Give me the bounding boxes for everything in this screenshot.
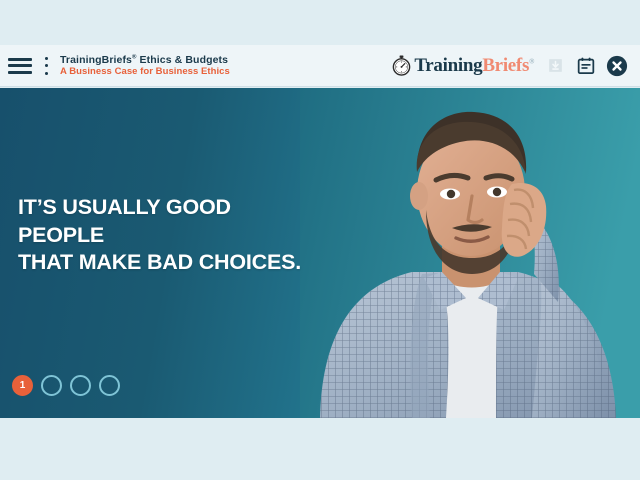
notes-glyph: [576, 56, 596, 76]
notes-icon[interactable]: [575, 55, 597, 77]
header-titles: TrainingBriefs® Ethics & Budgets A Busin…: [60, 54, 391, 78]
brand-word-training: Training: [414, 55, 482, 76]
slide-canvas: IT’S USUALLY GOOD PEOPLE THAT MAKE BAD C…: [0, 88, 640, 418]
more-options-icon[interactable]: [40, 57, 52, 75]
close-icon[interactable]: [606, 55, 628, 77]
close-glyph: [606, 55, 628, 77]
download-glyph: [546, 56, 565, 75]
page-title: TrainingBriefs® Ethics & Budgets: [60, 54, 391, 66]
page-title-brand: TrainingBriefs: [60, 54, 132, 66]
kebab-dot: [45, 64, 48, 67]
window-bottom-margin: [0, 418, 640, 480]
page-subtitle: A Business Case for Business Ethics: [60, 67, 391, 78]
pagination-dot-3[interactable]: [70, 375, 91, 396]
brand-word-briefs: Briefs: [482, 55, 529, 76]
pagination-dot-1[interactable]: 1: [12, 375, 33, 396]
kebab-dot: [45, 57, 48, 60]
download-icon[interactable]: [544, 55, 566, 77]
hamburger-line: [8, 58, 32, 61]
window-top-margin: [0, 0, 640, 45]
header-actions: [544, 55, 628, 77]
brand-trademark-icon: ®: [529, 57, 534, 65]
brand-wordmark: TrainingBriefs®: [414, 55, 534, 77]
slide-pagination: 1: [12, 375, 120, 396]
app-header: TrainingBriefs® Ethics & Budgets A Busin…: [0, 45, 640, 87]
headline-line-2: THAT MAKE BAD CHOICES.: [18, 249, 318, 277]
kebab-dot: [45, 72, 48, 75]
slide-headline: IT’S USUALLY GOOD PEOPLE THAT MAKE BAD C…: [18, 194, 318, 277]
pagination-dot-2[interactable]: [41, 375, 62, 396]
hamburger-line: [8, 71, 32, 74]
pagination-dot-4[interactable]: [99, 375, 120, 396]
man-resting-head-on-hand-illustration: [300, 88, 640, 418]
headline-line-1: IT’S USUALLY GOOD PEOPLE: [18, 194, 318, 249]
hamburger-line: [8, 64, 32, 67]
slide-photo: [300, 88, 640, 418]
stopwatch-icon: [391, 55, 412, 76]
trainingbriefs-logo: TrainingBriefs®: [391, 55, 534, 77]
hamburger-menu-icon[interactable]: [8, 58, 32, 74]
page-title-suffix: Ethics & Budgets: [137, 54, 229, 66]
